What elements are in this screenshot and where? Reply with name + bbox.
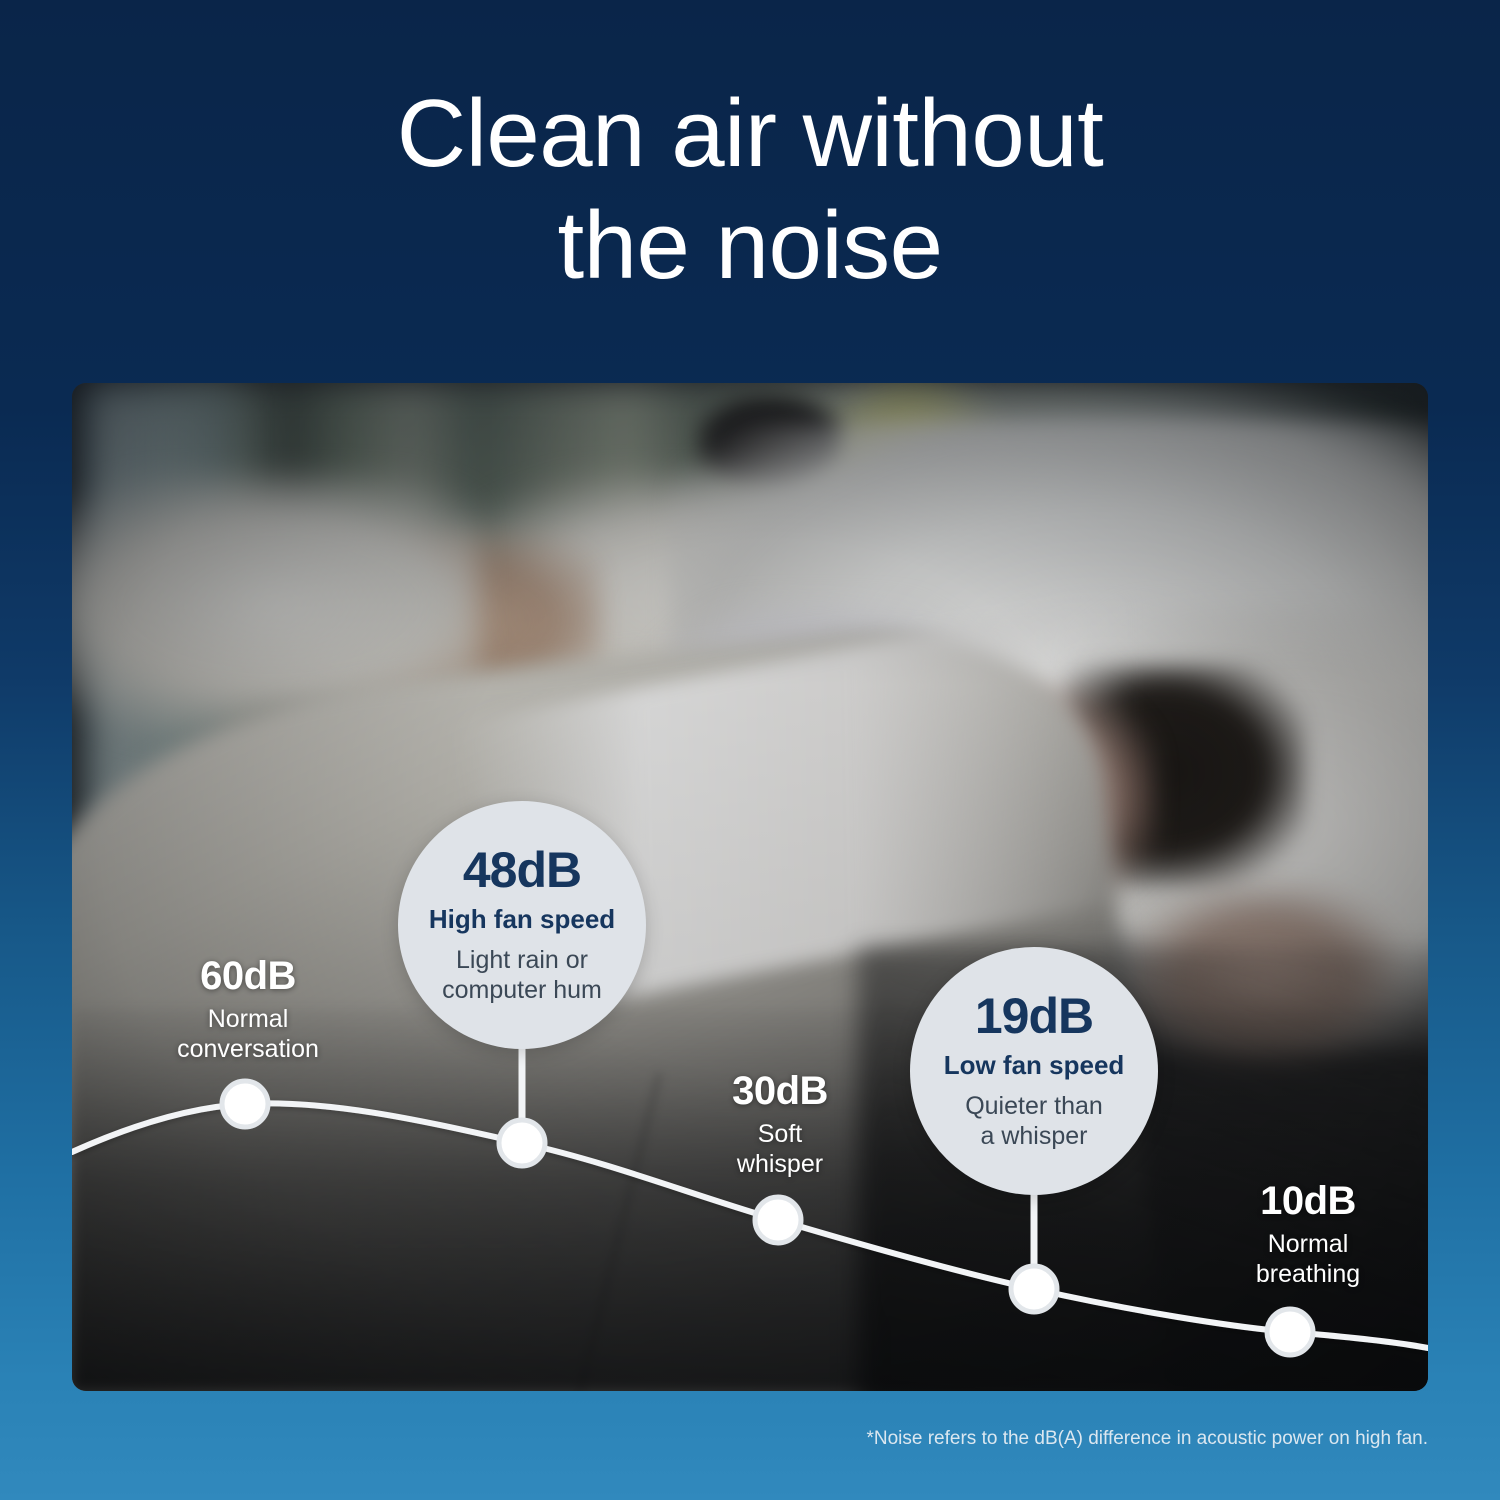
bubble-19db: 19dB Low fan speed Quieter than a whispe…: [910, 947, 1158, 1195]
headline-line-2: the noise: [0, 190, 1500, 302]
label-10db-desc-line1: Normal: [1218, 1230, 1398, 1260]
label-30db-value: 30dB: [700, 1068, 860, 1115]
bubble-48db-value: 48dB: [463, 845, 581, 895]
bubble-48db-desc-line1: Light rain or: [456, 945, 588, 975]
label-10db-value: 10dB: [1218, 1178, 1398, 1225]
curve-node-48db: [499, 1120, 545, 1166]
bubble-48db: 48dB High fan speed Light rain or comput…: [398, 801, 646, 1049]
bubble-19db-label: Low fan speed: [944, 1051, 1125, 1080]
bubble-48db-label: High fan speed: [429, 905, 615, 934]
label-60db: 60dB Normal conversation: [168, 953, 328, 1064]
bubble-19db-desc-line2: a whisper: [981, 1121, 1088, 1151]
bedroom-photo-card: 60dB Normal conversation 30dB Soft whisp…: [72, 383, 1428, 1391]
bubble-48db-desc-line2: computer hum: [442, 975, 602, 1005]
label-60db-value: 60dB: [168, 953, 328, 1000]
label-30db-desc-line2: whisper: [700, 1150, 860, 1180]
label-10db-desc-line2: breathing: [1218, 1260, 1398, 1290]
bubble-19db-value: 19dB: [975, 991, 1093, 1041]
label-30db: 30dB Soft whisper: [700, 1068, 860, 1179]
curve-node-30db: [755, 1197, 801, 1243]
headline-line-1: Clean air without: [0, 78, 1500, 190]
label-60db-desc-line2: conversation: [168, 1035, 328, 1065]
label-30db-desc-line1: Soft: [700, 1120, 860, 1150]
bubble-19db-desc-line1: Quieter than: [965, 1091, 1103, 1121]
curve-node-10db: [1267, 1309, 1313, 1355]
footnote: *Noise refers to the dB(A) difference in…: [866, 1428, 1428, 1450]
page-title: Clean air without the noise: [0, 78, 1500, 303]
label-10db: 10dB Normal breathing: [1218, 1178, 1398, 1289]
label-60db-desc-line1: Normal: [168, 1005, 328, 1035]
curve-node-60db: [222, 1081, 268, 1127]
curve-node-19db: [1011, 1266, 1057, 1312]
